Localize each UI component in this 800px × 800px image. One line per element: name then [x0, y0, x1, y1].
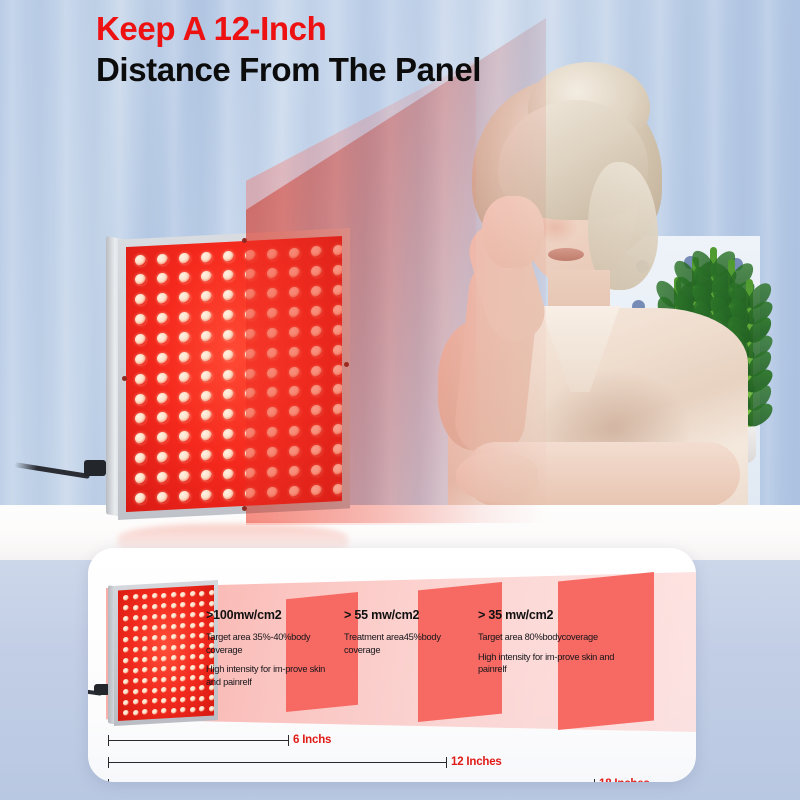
- led: [135, 394, 146, 405]
- measurement-label-6in: 6 Inchs: [293, 734, 331, 746]
- led: [161, 624, 167, 630]
- panel-screw-left: [122, 376, 127, 381]
- led: [201, 450, 212, 461]
- led: [201, 391, 212, 402]
- led: [152, 635, 158, 641]
- led: [179, 372, 190, 383]
- product-marketing-image: Keep A 12-Inch Distance From The Panel >…: [0, 0, 800, 800]
- spec-detail-2-1: Treatment area45%body coverage: [344, 631, 464, 656]
- led: [142, 636, 148, 642]
- led: [135, 374, 146, 385]
- led: [142, 699, 148, 705]
- led: [152, 656, 158, 662]
- led: [209, 601, 214, 607]
- led: [142, 657, 148, 663]
- led: [190, 654, 196, 660]
- led: [152, 688, 158, 694]
- led: [133, 657, 139, 663]
- lips: [548, 248, 584, 261]
- spec-block-2: > 55 mw/cm2 Treatment area45%body covera…: [344, 608, 464, 663]
- led: [133, 689, 139, 695]
- led: [123, 616, 129, 622]
- led: [199, 643, 205, 649]
- led: [123, 700, 129, 706]
- led: [133, 626, 139, 632]
- led: [190, 591, 196, 597]
- spec-intensity-1: >100mw/cm2: [206, 608, 334, 622]
- led: [179, 272, 190, 283]
- led: [142, 678, 148, 684]
- led: [133, 668, 139, 674]
- led: [157, 492, 168, 503]
- led: [135, 314, 146, 325]
- led: [201, 430, 212, 441]
- led: [123, 605, 129, 611]
- led: [199, 654, 205, 660]
- led: [157, 472, 168, 483]
- led: [142, 709, 148, 715]
- led: [223, 310, 234, 321]
- led: [179, 352, 190, 363]
- led: [161, 635, 167, 641]
- led: [201, 252, 212, 263]
- led: [171, 655, 177, 661]
- led: [223, 429, 234, 440]
- led: [135, 354, 146, 365]
- led: [190, 707, 196, 713]
- led: [135, 473, 146, 484]
- led: [142, 604, 148, 610]
- led: [135, 255, 146, 266]
- led: [142, 646, 148, 652]
- led: [179, 392, 190, 403]
- led: [190, 623, 196, 629]
- led: [223, 370, 234, 381]
- led: [171, 676, 177, 682]
- headline-line-2: Distance From The Panel: [96, 51, 656, 90]
- led: [201, 271, 212, 282]
- led-panel-diagram: [108, 580, 218, 728]
- led: [161, 687, 167, 693]
- led: [209, 706, 214, 712]
- led: [171, 624, 177, 630]
- led: [180, 707, 186, 713]
- led: [142, 615, 148, 621]
- led: [142, 594, 148, 600]
- led: [123, 689, 129, 695]
- cable-plug: [84, 460, 106, 476]
- led: [171, 697, 177, 703]
- led: [223, 270, 234, 281]
- led: [157, 393, 168, 404]
- led: [152, 677, 158, 683]
- led: [135, 493, 146, 504]
- led: [142, 625, 148, 631]
- led: [171, 708, 177, 714]
- power-cable: [54, 460, 110, 470]
- led: [190, 612, 196, 618]
- led: [199, 591, 205, 597]
- led: [171, 592, 177, 598]
- led: [123, 637, 129, 643]
- led: [133, 647, 139, 653]
- led: [152, 709, 158, 715]
- led: [152, 667, 158, 673]
- led: [123, 679, 129, 685]
- led: [135, 294, 146, 305]
- led: [223, 409, 234, 420]
- led: [179, 491, 190, 502]
- led: [190, 644, 196, 650]
- measurement-label-12in: 12 Inches: [451, 756, 502, 768]
- led: [199, 685, 205, 691]
- led: [133, 699, 139, 705]
- led: [180, 634, 186, 640]
- led: [161, 593, 167, 599]
- led: [135, 453, 146, 464]
- led: [171, 634, 177, 640]
- led: [123, 626, 129, 632]
- led: [152, 625, 158, 631]
- led: [135, 274, 146, 285]
- led: [201, 490, 212, 501]
- led: [180, 592, 186, 598]
- led: [201, 470, 212, 481]
- led: [161, 614, 167, 620]
- led: [190, 602, 196, 608]
- led: [142, 667, 148, 673]
- led: [152, 646, 158, 652]
- led: [171, 613, 177, 619]
- led: [190, 696, 196, 702]
- led: [199, 696, 205, 702]
- led: [152, 698, 158, 704]
- led: [180, 623, 186, 629]
- spec-detail-1-1: Target area 35%-40%body coverage: [206, 631, 334, 656]
- led: [161, 677, 167, 683]
- led: [133, 605, 139, 611]
- led: [171, 645, 177, 651]
- led: [157, 452, 168, 463]
- measurement-label-18in: 18 Inches: [599, 778, 650, 782]
- spec-block-3: > 35 mw/cm2 Target area 80%bodycoverage …: [478, 608, 638, 683]
- led: [157, 432, 168, 443]
- led: [180, 644, 186, 650]
- led: [201, 351, 212, 362]
- spec-detail-3-2: High intensity for im-prove skin and pai…: [478, 651, 638, 676]
- led: [223, 389, 234, 400]
- led: [190, 675, 196, 681]
- led: [133, 710, 139, 716]
- led: [223, 350, 234, 361]
- led: [201, 331, 212, 342]
- led: [157, 273, 168, 284]
- led: [152, 593, 158, 599]
- spec-detail-1-2: High intensity for im-prove skin and pai…: [206, 663, 334, 688]
- led: [157, 353, 168, 364]
- led: [199, 706, 205, 712]
- led: [179, 431, 190, 442]
- led: [161, 645, 167, 651]
- led: [152, 604, 158, 610]
- led: [179, 332, 190, 343]
- led: [133, 594, 139, 600]
- led: [135, 334, 146, 345]
- led: [123, 668, 129, 674]
- led: [190, 686, 196, 692]
- led: [157, 412, 168, 423]
- spec-intensity-3: > 35 mw/cm2: [478, 608, 638, 622]
- headline-line-1: Keep A 12-Inch: [96, 10, 656, 49]
- led: [223, 330, 234, 341]
- led: [199, 601, 205, 607]
- led: [161, 698, 167, 704]
- led: [190, 665, 196, 671]
- led: [157, 254, 168, 265]
- led: [161, 708, 167, 714]
- led: [171, 687, 177, 693]
- led: [199, 675, 205, 681]
- led: [223, 469, 234, 480]
- led: [179, 292, 190, 303]
- led: [179, 471, 190, 482]
- led: [209, 590, 214, 596]
- led: [180, 602, 186, 608]
- led: [190, 633, 196, 639]
- diagram-panel-led-surface: [118, 585, 214, 721]
- led: [201, 410, 212, 421]
- led: [161, 656, 167, 662]
- led: [171, 666, 177, 672]
- led: [157, 293, 168, 304]
- led: [180, 665, 186, 671]
- led: [133, 615, 139, 621]
- led: [133, 636, 139, 642]
- led: [157, 373, 168, 384]
- led: [161, 603, 167, 609]
- led: [201, 371, 212, 382]
- led: [199, 612, 205, 618]
- led: [135, 433, 146, 444]
- spec-block-1: >100mw/cm2 Target area 35%-40%body cover…: [206, 608, 334, 695]
- led: [199, 633, 205, 639]
- distance-diagram-card: >100mw/cm2 Target area 35%-40%body cover…: [88, 548, 696, 782]
- led: [135, 413, 146, 424]
- led: [209, 695, 214, 701]
- led: [180, 697, 186, 703]
- led: [157, 313, 168, 324]
- led: [179, 253, 190, 264]
- led: [123, 647, 129, 653]
- spec-detail-3-1: Target area 80%bodycoverage: [478, 631, 638, 644]
- led: [161, 666, 167, 672]
- headline: Keep A 12-Inch Distance From The Panel: [96, 10, 656, 90]
- led: [223, 449, 234, 460]
- led: [157, 333, 168, 344]
- led: [123, 595, 129, 601]
- led: [180, 613, 186, 619]
- led: [180, 686, 186, 692]
- led: [223, 489, 234, 500]
- led: [201, 311, 212, 322]
- led: [123, 710, 129, 716]
- led: [179, 411, 190, 422]
- spec-intensity-2: > 55 mw/cm2: [344, 608, 464, 622]
- led: [223, 251, 234, 262]
- led: [133, 678, 139, 684]
- led: [201, 291, 212, 302]
- led: [179, 451, 190, 462]
- led: [199, 664, 205, 670]
- led: [123, 658, 129, 664]
- led: [180, 676, 186, 682]
- led: [142, 688, 148, 694]
- led: [223, 290, 234, 301]
- led: [171, 603, 177, 609]
- led: [199, 622, 205, 628]
- led: [180, 655, 186, 661]
- led: [179, 312, 190, 323]
- led: [152, 614, 158, 620]
